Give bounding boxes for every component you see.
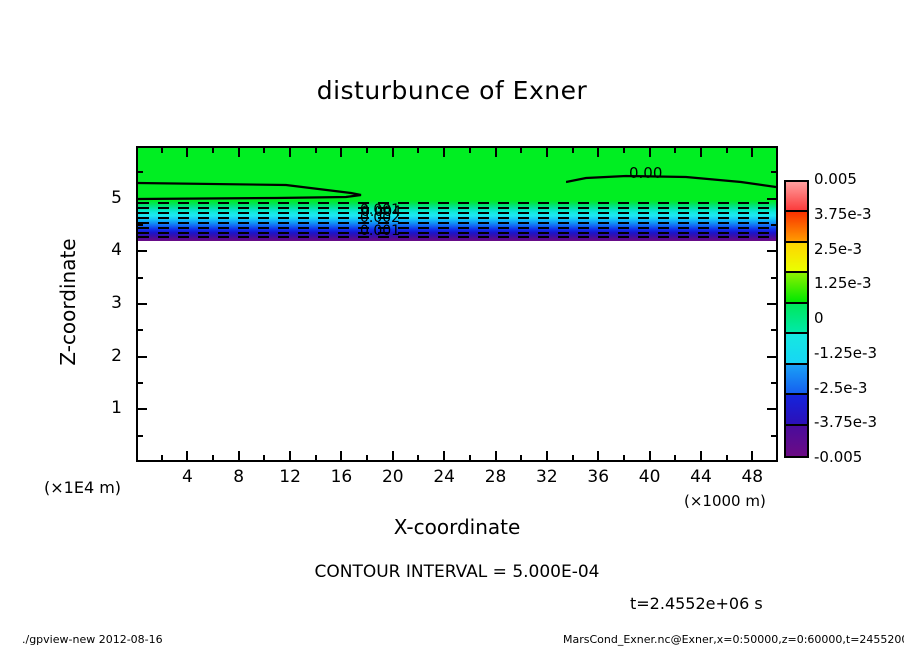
colorbar-tick-label: 0	[814, 309, 824, 327]
colorbar-tick-label: -0.005	[814, 448, 862, 466]
colorbar-tick-label: -2.5e-3	[814, 379, 867, 397]
colorbar-labels: 0.0053.75e-32.5e-31.25e-30-1.25e-3-2.5e-…	[0, 0, 904, 654]
colorbar-tick-label: -1.25e-3	[814, 344, 877, 362]
time-annotation: t=2.4552e+06 s	[630, 594, 763, 613]
colorbar-tick-label: 2.5e-3	[814, 240, 862, 258]
footer-source-file: MarsCond_Exner.nc@Exner,x=0:50000,z=0:60…	[563, 633, 904, 646]
colorbar-tick-label: 3.75e-3	[814, 205, 872, 223]
colorbar-tick-label: 0.005	[814, 170, 857, 188]
colorbar-tick-label: -3.75e-3	[814, 413, 877, 431]
footer-command-date: ./gpview-new 2012-08-16	[22, 633, 163, 646]
colorbar-tick-label: 1.25e-3	[814, 274, 872, 292]
contour-interval-annotation: CONTOUR INTERVAL = 5.000E-04	[136, 562, 778, 582]
